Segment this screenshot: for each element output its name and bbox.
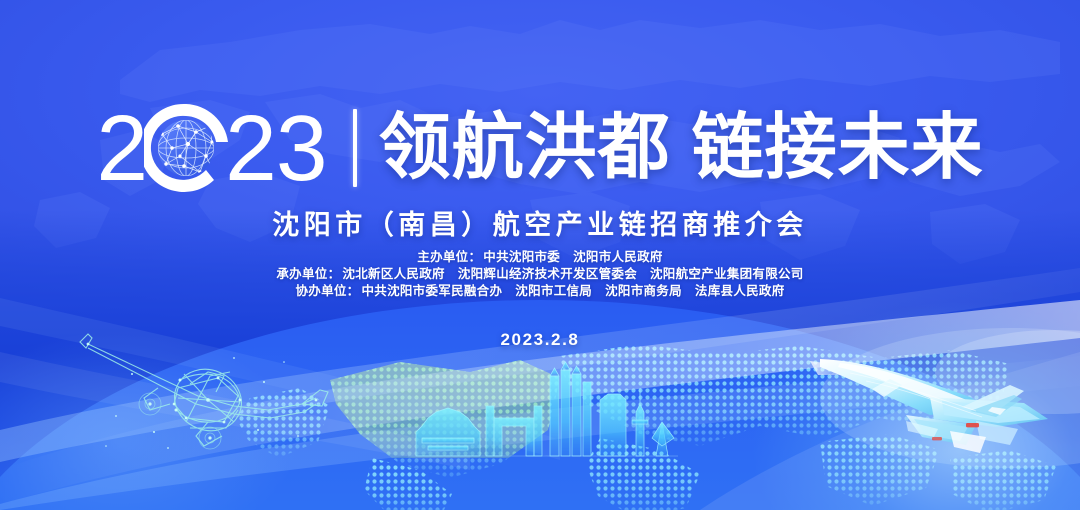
organizer-item: 法库县人民政府 [695, 284, 785, 298]
organizer-line: 主办单位：中共沈阳市委沈阳市人民政府 [0, 249, 1080, 266]
poster-slogan: 领航洪都 链接未来 [379, 110, 984, 186]
network-globe-icon [144, 102, 228, 194]
poster-content: 2 [0, 0, 1080, 510]
organizer-item: 中共沈阳市委军民融合办 [361, 284, 502, 298]
organizer-line: 协办单位：中共沈阳市委军民融合办沈阳市工信局沈阳市商务局法库县人民政府 [0, 283, 1080, 300]
organizer-item: 沈阳市工信局 [515, 284, 592, 298]
poster-subtitle: 沈阳市（南昌）航空产业链招商推介会 [0, 203, 1080, 242]
title-divider [353, 109, 357, 187]
organizer-list: 主办单位：中共沈阳市委沈阳市人民政府 承办单位：沈北新区人民政府沈阳辉山经济技术… [0, 249, 1080, 300]
organizer-label: 主办单位： [417, 250, 481, 264]
organizer-label: 承办单位： [276, 267, 340, 281]
organizer-item: 沈阳航空产业集团有限公司 [650, 267, 804, 281]
year-digit-1: 2 [96, 102, 147, 194]
year-digit-3: 2 [225, 102, 276, 194]
organizer-label: 协办单位： [295, 284, 359, 298]
organizer-item: 沈北新区人民政府 [342, 267, 444, 281]
event-date: 2023.2.8 [0, 330, 1080, 350]
headline-row: 2 [0, 100, 1080, 196]
organizer-item: 沈阳市商务局 [605, 284, 682, 298]
organizer-item: 沈阳辉山经济技术开发区管委会 [458, 267, 637, 281]
event-poster: 2 [0, 0, 1080, 510]
organizer-line: 承办单位：沈北新区人民政府沈阳辉山经济技术开发区管委会沈阳航空产业集团有限公司 [0, 266, 1080, 283]
year-logo: 2 [96, 100, 326, 196]
year-digit-4: 3 [276, 102, 327, 194]
organizer-item: 沈阳市人民政府 [573, 250, 663, 264]
organizer-item: 中共沈阳市委 [483, 250, 560, 264]
